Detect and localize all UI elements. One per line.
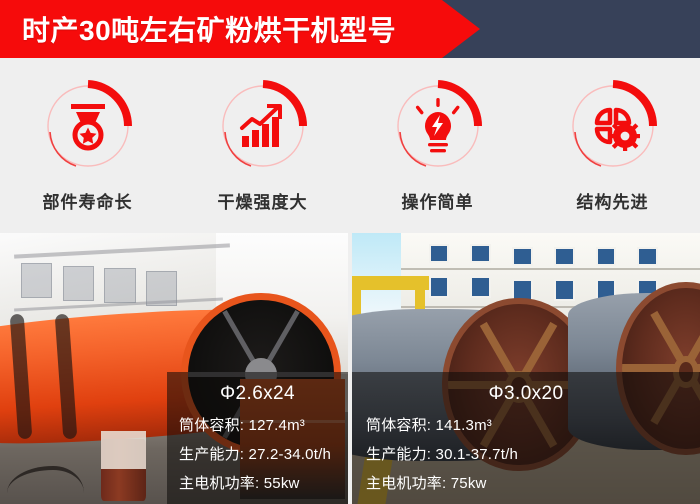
feature-list: 部件寿命长 干燥强度大 [0, 58, 700, 233]
spec-power: 主电机功率: 75kw [352, 472, 700, 493]
building-window [429, 276, 450, 298]
wall-window [21, 263, 52, 298]
building-window [470, 276, 491, 298]
feature-label-1: 部件寿命长 [43, 188, 133, 213]
spec-power: 主电机功率: 55kw [167, 472, 348, 493]
feature-item-4[interactable]: 结构先进 [525, 58, 700, 233]
spec-volume: 筒体容积: 127.4m³ [167, 414, 348, 435]
building-window [596, 247, 617, 266]
feature-label-3: 操作简单 [402, 188, 474, 213]
feature-item-3[interactable]: 操作简单 [350, 58, 525, 233]
rotary-dryer-grey-photo[interactable]: Φ3.0x20 筒体容积: 141.3m³ 生产能力: 30.1-37.7t/h… [352, 233, 700, 504]
spec-capacity: 生产能力: 30.1-37.7t/h [352, 443, 700, 464]
wall-window [63, 266, 94, 301]
feature-label-2: 干燥强度大 [218, 188, 308, 213]
feature-label-4: 结构先进 [577, 188, 649, 213]
building-window [429, 244, 450, 263]
product-photo-row: Φ2.6x24 筒体容积: 127.4m³ 生产能力: 27.2-34.0t/h… [0, 233, 700, 504]
spec-caption-right: Φ3.0x20 筒体容积: 141.3m³ 生产能力: 30.1-37.7t/h… [352, 372, 700, 504]
spec-caption-left: Φ2.6x24 筒体容积: 127.4m³ 生产能力: 27.2-34.0t/h… [167, 372, 348, 504]
promo-page: 时产30吨左右矿粉烘干机型号 部件寿命长 [0, 0, 700, 504]
steel-barrel-band [101, 431, 146, 469]
building-window [554, 279, 575, 301]
building-window [554, 247, 575, 266]
bar-chart-growth-icon [217, 80, 309, 172]
building-window [470, 244, 491, 263]
wall-window [104, 268, 135, 303]
lightbulb-bolt-icon [392, 80, 484, 172]
building-window [637, 247, 658, 266]
spec-model: Φ2.6x24 [167, 383, 348, 405]
rotary-dryer-orange-photo[interactable]: Φ2.6x24 筒体容积: 127.4m³ 生产能力: 27.2-34.0t/h… [0, 233, 348, 504]
medal-icon [42, 80, 134, 172]
building-window [512, 247, 533, 266]
page-title: 时产30吨左右矿粉烘干机型号 [22, 0, 396, 58]
feature-item-2[interactable]: 干燥强度大 [175, 58, 350, 233]
spec-volume: 筒体容积: 141.3m³ [352, 414, 700, 435]
header-banner: 时产30吨左右矿粉烘干机型号 [0, 0, 700, 58]
wall-window [146, 271, 177, 306]
spec-model: Φ3.0x20 [352, 383, 700, 405]
feature-item-1[interactable]: 部件寿命长 [0, 58, 175, 233]
spec-capacity: 生产能力: 27.2-34.0t/h [167, 443, 348, 464]
building-floor-line [401, 268, 700, 270]
petals-gear-icon [567, 80, 659, 172]
